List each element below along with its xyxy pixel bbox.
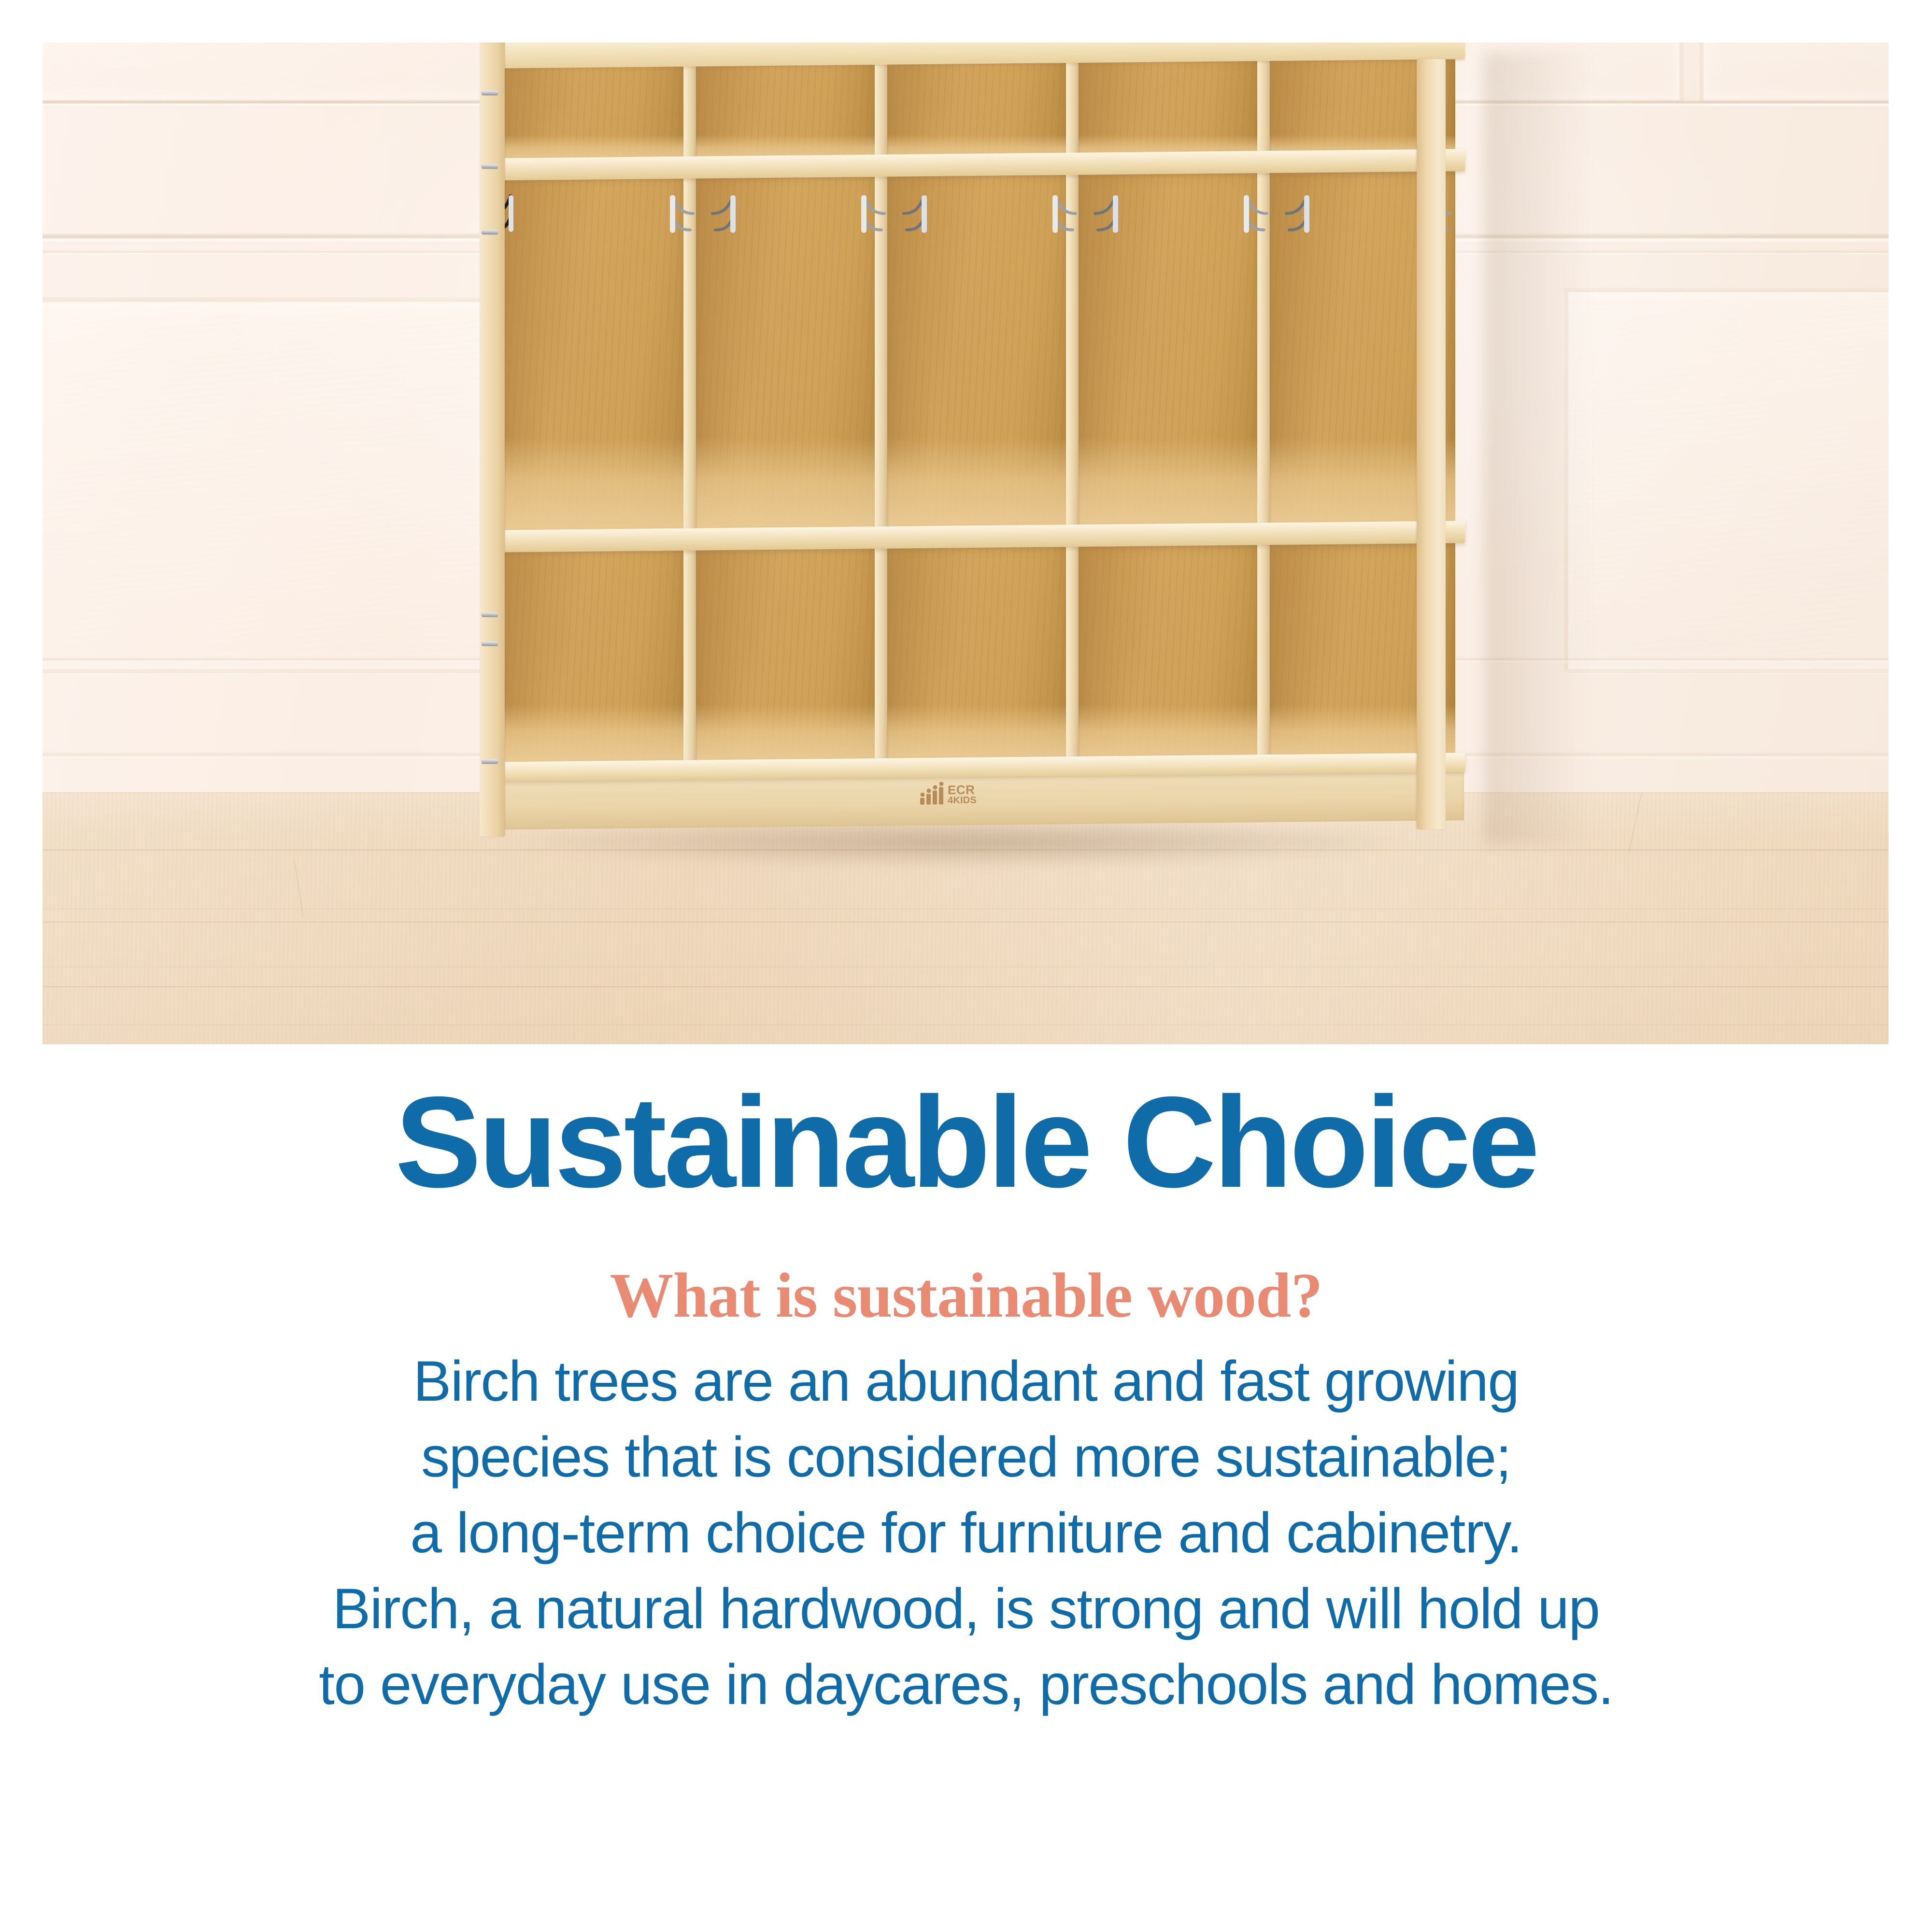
coat-hook-icon [894,194,932,241]
hook-bay [499,169,1455,532]
coat-hook-icon [1277,194,1314,241]
cubby-divider [683,53,696,163]
coat-locker-unit: ECR 4KIDS [437,43,1488,864]
cubby-divider [683,541,696,762]
fastener-pin-icon [482,164,498,169]
locker-section [499,169,687,532]
bottom-cubby-bay [499,541,1455,762]
people-group-icon [920,785,943,804]
body-line: a long-term choice for furniture and cab… [0,1495,1932,1571]
marketing-copy-block: Sustainable Choice What is sustainable w… [0,1077,1932,1723]
body-line: to everyday use in daycares, preschools … [0,1647,1932,1723]
brand-logo-primary: ECR [948,784,977,796]
locker-right-post [1417,59,1446,829]
coat-hook-icon [703,194,740,241]
cubby-divider [875,541,887,762]
body-line: Birch, a natural hardwood, is strong and… [0,1571,1932,1647]
bottom-cubby [885,541,1070,762]
body-line: Birch trees are an abundant and fast gro… [0,1344,1932,1420]
locker-left-post [480,43,505,837]
fastener-pin-icon [482,91,498,95]
section-subheading: What is sustainable wood? [0,1264,1932,1327]
bottom-cubby [499,541,687,762]
bottom-cubby [694,541,879,762]
fastener-pin-icon [482,612,498,617]
top-cubby [885,53,1070,163]
cubby-divider [875,53,887,163]
cubby-divider [1257,53,1270,163]
fastener-pin-icon [482,759,498,764]
top-cubby [1077,53,1261,163]
top-cubby [499,53,687,163]
top-cubby-bay [499,53,1455,163]
brand-logo-secondary: 4KIDS [948,796,977,805]
cubby-divider [1066,541,1079,762]
brand-logo: ECR 4KIDS [920,779,1010,810]
cubby-divider [1066,53,1079,163]
fastener-pin-icon [482,641,498,646]
coat-hook-icon [1239,194,1277,241]
product-photo: ECR 4KIDS [43,43,1889,1044]
coat-hook-icon [1085,194,1123,241]
coat-hook-icon [856,194,894,241]
top-cubby [694,53,879,163]
coat-hook-icon [1048,194,1085,241]
locker-carcass: ECR 4KIDS [480,43,1446,840]
body-paragraph: Birch trees are an abundant and fast gro… [0,1344,1932,1723]
coat-hook-icon [665,194,703,241]
fastener-pin-icon [482,230,498,234]
page-title: Sustainable Choice [0,1077,1932,1207]
locker-wall-shadow [1484,52,1591,844]
body-line: species that is considered more sustaina… [0,1420,1932,1495]
bottom-cubby [1077,541,1261,762]
cubby-divider [1257,541,1270,762]
